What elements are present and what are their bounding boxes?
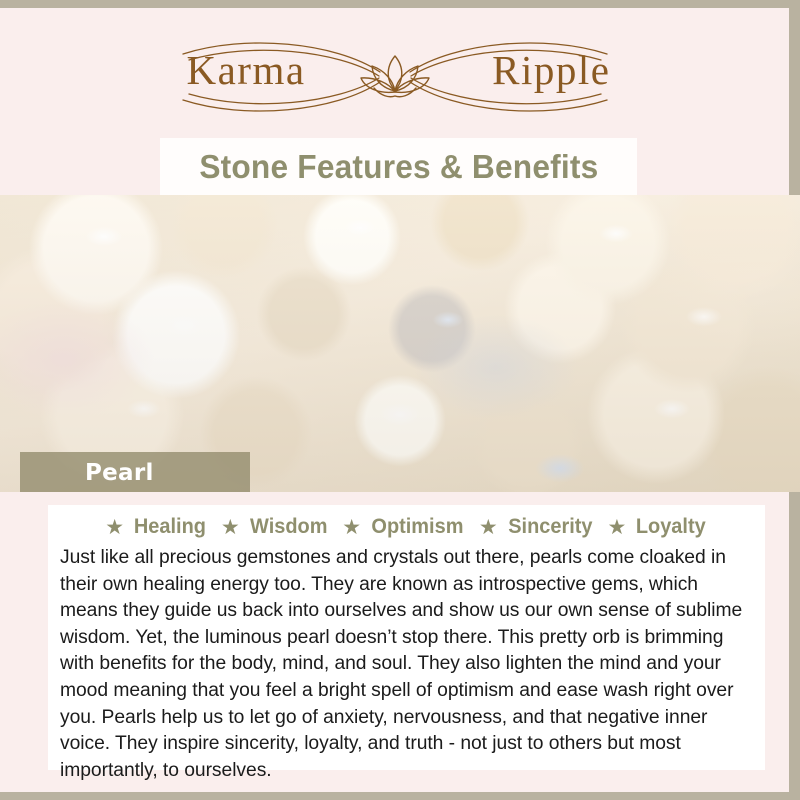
brand-name-left: Karma xyxy=(187,46,306,94)
keyword-list: ★ Healing ★ Wisdom ★ Optimism ★ Sincerit… xyxy=(48,505,765,539)
star-icon: ★ xyxy=(479,517,498,538)
brand-name-right: Ripple xyxy=(492,46,610,94)
keyword-label: Healing xyxy=(134,515,206,539)
keyword-item: ★ Sincerity xyxy=(479,515,595,539)
star-icon: ★ xyxy=(221,517,240,538)
logo-band: Karma Ripple xyxy=(0,8,789,136)
keyword-item: ★ Wisdom xyxy=(221,515,329,539)
title-plaque: Stone Features & Benefits xyxy=(160,138,637,195)
star-icon: ★ xyxy=(105,517,124,538)
keyword-item: ★ Optimism xyxy=(342,515,466,539)
keyword-item: ★ Loyalty xyxy=(607,515,707,539)
blush-strip xyxy=(0,492,789,505)
page-title: Stone Features & Benefits xyxy=(199,148,598,186)
content-card: ★ Healing ★ Wisdom ★ Optimism ★ Sincerit… xyxy=(48,505,765,770)
infographic-page: Karma Ripple Stone Features & Benefits P… xyxy=(0,0,800,800)
keyword-label: Wisdom xyxy=(250,515,327,539)
description-paragraph: Just like all precious gemstones and cry… xyxy=(60,545,753,784)
star-icon: ★ xyxy=(342,517,361,538)
photo-layer-tint xyxy=(0,195,800,492)
star-icon: ★ xyxy=(607,517,626,538)
brand-logo: Karma Ripple xyxy=(165,38,625,116)
keyword-label: Sincerity xyxy=(508,515,592,539)
stone-name-banner: Pearl xyxy=(20,452,250,493)
keyword-item: ★ Healing xyxy=(105,515,208,539)
keyword-label: Optimism xyxy=(371,515,463,539)
keyword-label: Loyalty xyxy=(636,515,706,539)
stone-name-label: Pearl xyxy=(85,460,154,486)
pearls-photo xyxy=(0,195,800,492)
